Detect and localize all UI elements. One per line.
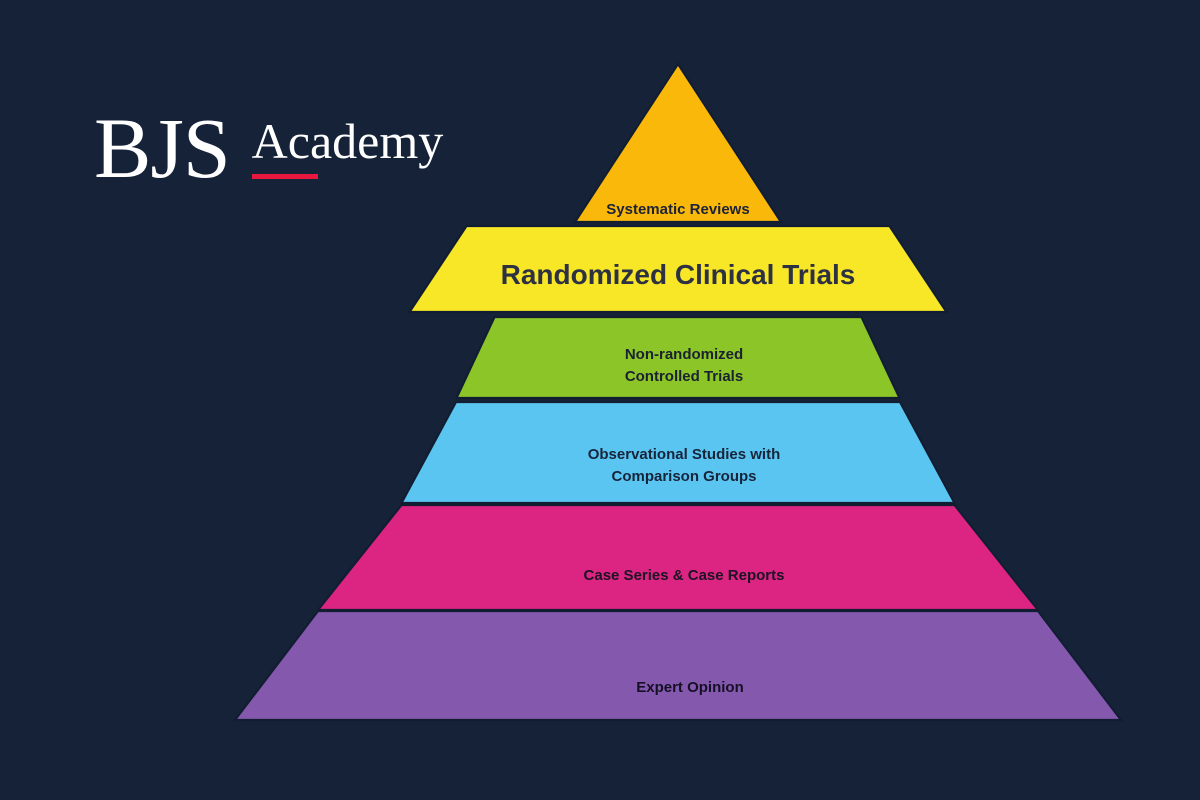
pyramid-tier-4[interactable]	[402, 402, 955, 503]
pyramid-tier-1[interactable]	[575, 64, 781, 222]
pyramid-tier-3[interactable]	[457, 317, 900, 398]
evidence-pyramid-diagram: Systematic ReviewsRandomized Clinical Tr…	[0, 0, 1200, 800]
pyramid-tier-5[interactable]	[318, 505, 1038, 610]
pyramid-tier-layer	[235, 64, 1121, 720]
pyramid-svg: Systematic ReviewsRandomized Clinical Tr…	[0, 0, 1200, 800]
pyramid-tier-6[interactable]	[235, 611, 1121, 720]
evidence-pyramid-page: BJS Academy Systematic ReviewsRandomized…	[0, 0, 1200, 800]
pyramid-tier-2[interactable]	[410, 226, 947, 312]
